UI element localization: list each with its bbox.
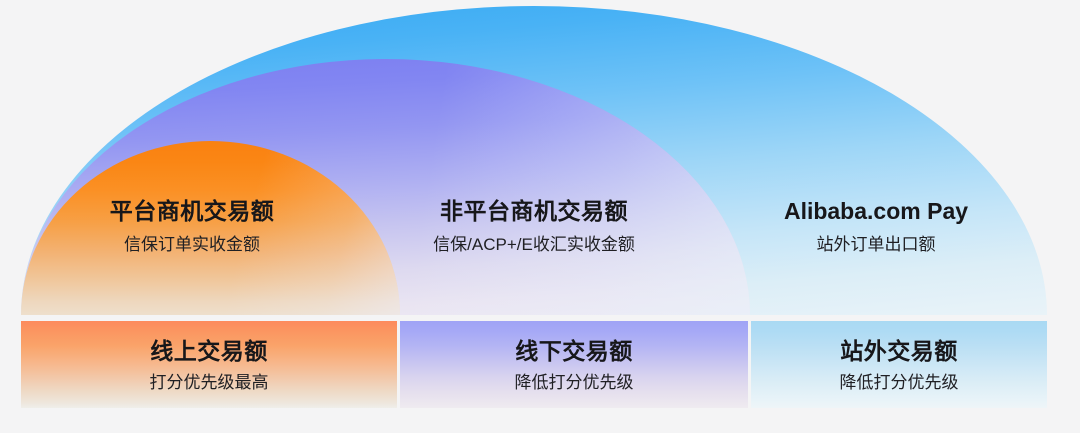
bar-title-offsite-transaction: 站外交易额 — [840, 336, 958, 366]
arch-title-alibaba-com-pay: Alibaba.com Pay — [705, 196, 1047, 226]
arch-label-non-platform-opportunity: 非平台商机交易额 信保/ACP+/E收汇实收金额 — [363, 196, 705, 281]
arch-subtitle-platform-opportunity: 信保订单实收金额 — [21, 233, 363, 257]
bar-subtitle-offsite-transaction: 降低打分优先级 — [840, 371, 959, 394]
arch-label-row: 平台商机交易额 信保订单实收金额 非平台商机交易额 信保/ACP+/E收汇实收金… — [21, 196, 1047, 281]
bar-online-transaction: 线上交易额 打分优先级最高 — [21, 321, 397, 408]
bar-subtitle-online-transaction: 打分优先级最高 — [150, 371, 269, 394]
arch-label-alibaba-com-pay: Alibaba.com Pay 站外订单出口额 — [705, 196, 1047, 281]
arch-subtitle-alibaba-com-pay: 站外订单出口额 — [705, 233, 1047, 257]
arch-title-platform-opportunity: 平台商机交易额 — [21, 196, 363, 226]
arch-label-platform-opportunity: 平台商机交易额 信保订单实收金额 — [21, 196, 363, 281]
arch-title-non-platform-opportunity: 非平台商机交易额 — [363, 196, 705, 226]
bar-title-offline-transaction: 线下交易额 — [515, 336, 633, 366]
arch-subtitle-non-platform-opportunity: 信保/ACP+/E收汇实收金额 — [363, 233, 705, 257]
bar-offsite-transaction: 站外交易额 降低打分优先级 — [751, 321, 1047, 408]
bar-title-online-transaction: 线上交易额 — [150, 336, 268, 366]
bottom-bar-row: 线上交易额 打分优先级最高 线下交易额 降低打分优先级 站外交易额 降低打分优先… — [21, 321, 1047, 408]
diagram-canvas: 平台商机交易额 信保订单实收金额 非平台商机交易额 信保/ACP+/E收汇实收金… — [0, 0, 1080, 433]
bar-offline-transaction: 线下交易额 降低打分优先级 — [400, 321, 748, 408]
bar-subtitle-offline-transaction: 降低打分优先级 — [515, 371, 634, 394]
